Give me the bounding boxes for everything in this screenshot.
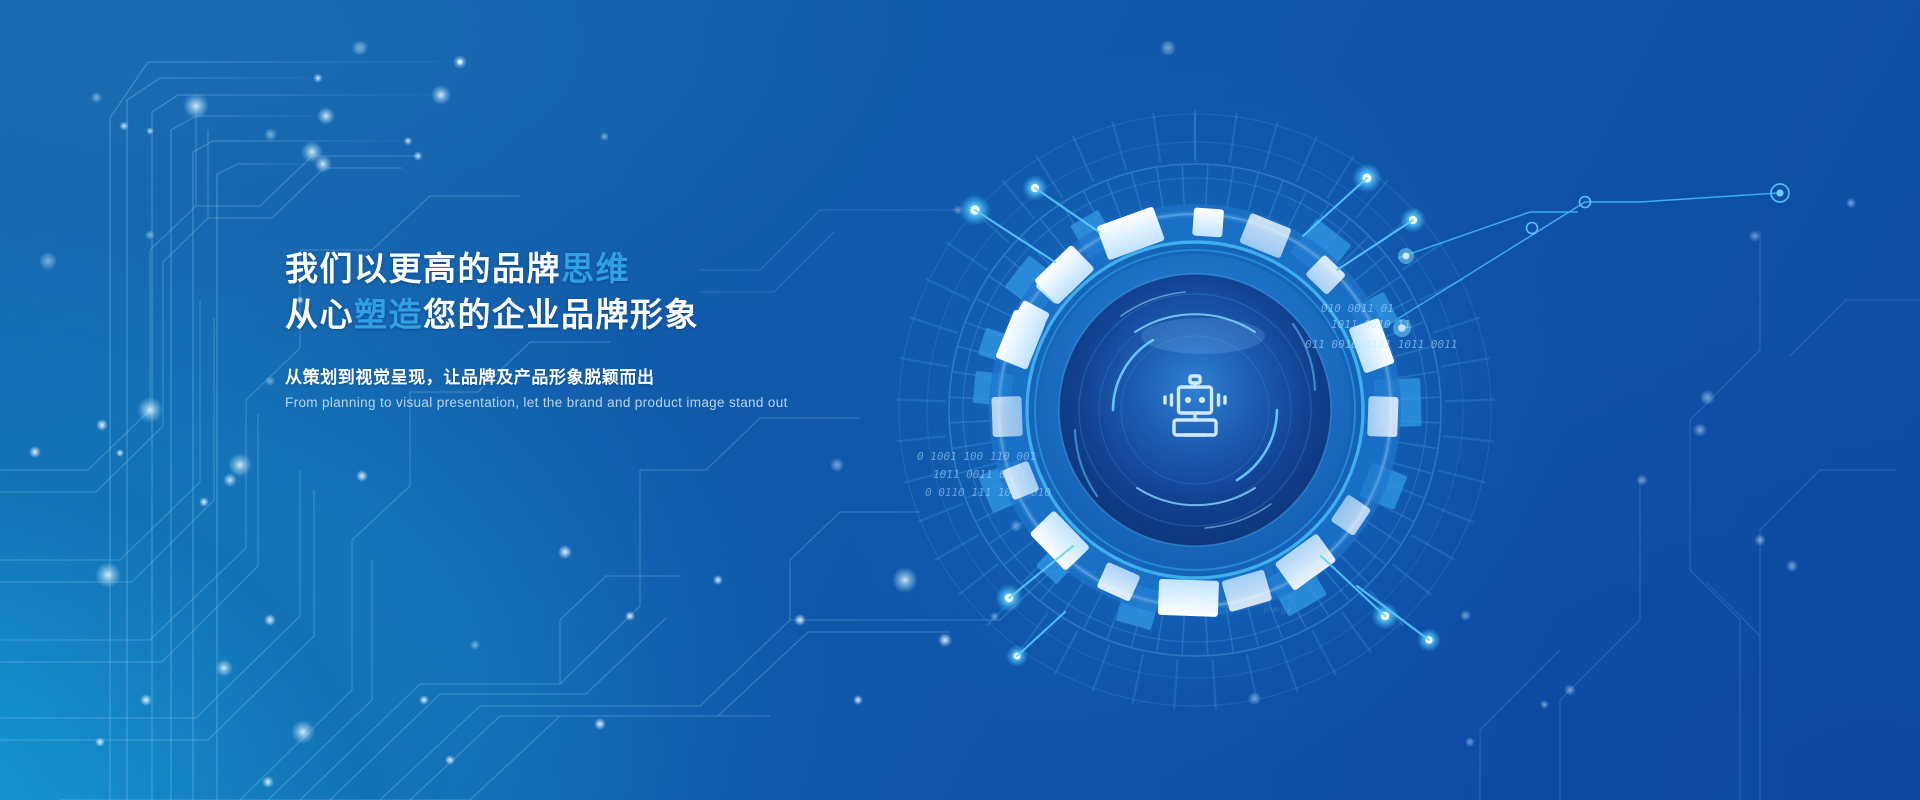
headline-line-2: 从心塑造您的企业品牌形象 [285, 292, 1045, 338]
headline-line2-text-a: 从心 [285, 296, 354, 333]
graphic-watermark: ynergy [1263, 605, 1291, 614]
binary-text-right-1: 010 0011 01 [1321, 302, 1394, 315]
subtitle-english: From planning to visual presentation, le… [285, 395, 1045, 410]
subtitle-chinese: 从策划到视觉呈现，让品牌及产品形象脱颖而出 [285, 363, 1045, 388]
binary-text-right-2: 1011 0010 11 [1331, 318, 1410, 331]
robot-icon [1157, 374, 1233, 446]
hero-copy: 我们以更高的品牌思维 从心塑造您的企业品牌形象 从策划到视觉呈现，让品牌及产品形… [285, 246, 1045, 410]
binary-text-left-1: 0 1001 100 110 001 [917, 450, 1036, 463]
binary-text-left-3: 0 0110 111 1011 010 [925, 486, 1051, 499]
headline-line2-text-b: 您的企业品牌形象 [423, 296, 699, 333]
binary-text-right-3: 011 0010 1101 1011 0011 [1305, 338, 1457, 351]
hero-banner: 010 0011 01 1011 0010 11 011 0010 1101 1… [0, 0, 1920, 800]
binary-text-left-2: 1011 0011 0101 [933, 468, 1026, 481]
headline-line1-text: 我们以更高的品牌 [285, 250, 561, 287]
headline-line1-accent: 思维 [561, 250, 630, 287]
headline-line2-accent: 塑造 [354, 296, 423, 333]
hud-circle-graphic: 010 0011 01 1011 0010 11 011 0010 1101 1… [885, 100, 1505, 720]
headline-line-1: 我们以更高的品牌思维 [285, 246, 1045, 292]
